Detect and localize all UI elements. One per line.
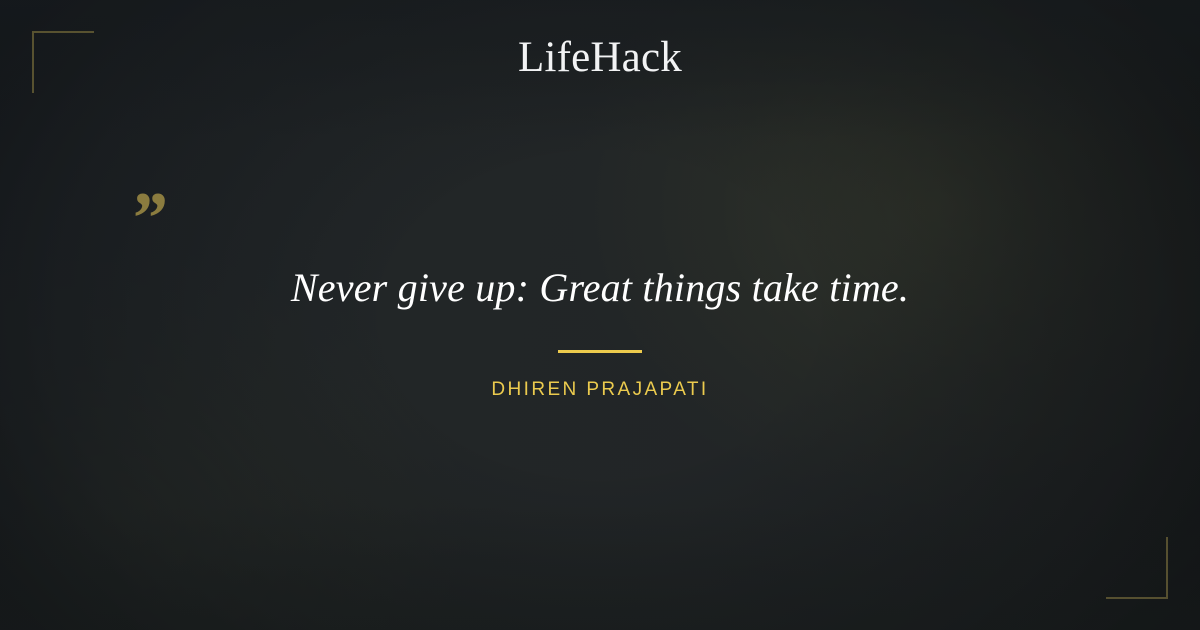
corner-bracket-bottom-right-icon bbox=[1106, 537, 1168, 599]
quote-card: LifeHack ” Never give up: Great things t… bbox=[0, 0, 1200, 630]
brand-logo: LifeHack bbox=[0, 36, 1200, 79]
quotation-mark-icon: ” bbox=[129, 182, 166, 256]
divider bbox=[558, 350, 642, 353]
quote-text: Never give up: Great things take time. bbox=[0, 263, 1200, 313]
quote-block: Never give up: Great things take time. D… bbox=[0, 263, 1200, 401]
quote-author: DHIREN PRAJAPATI bbox=[0, 379, 1200, 401]
